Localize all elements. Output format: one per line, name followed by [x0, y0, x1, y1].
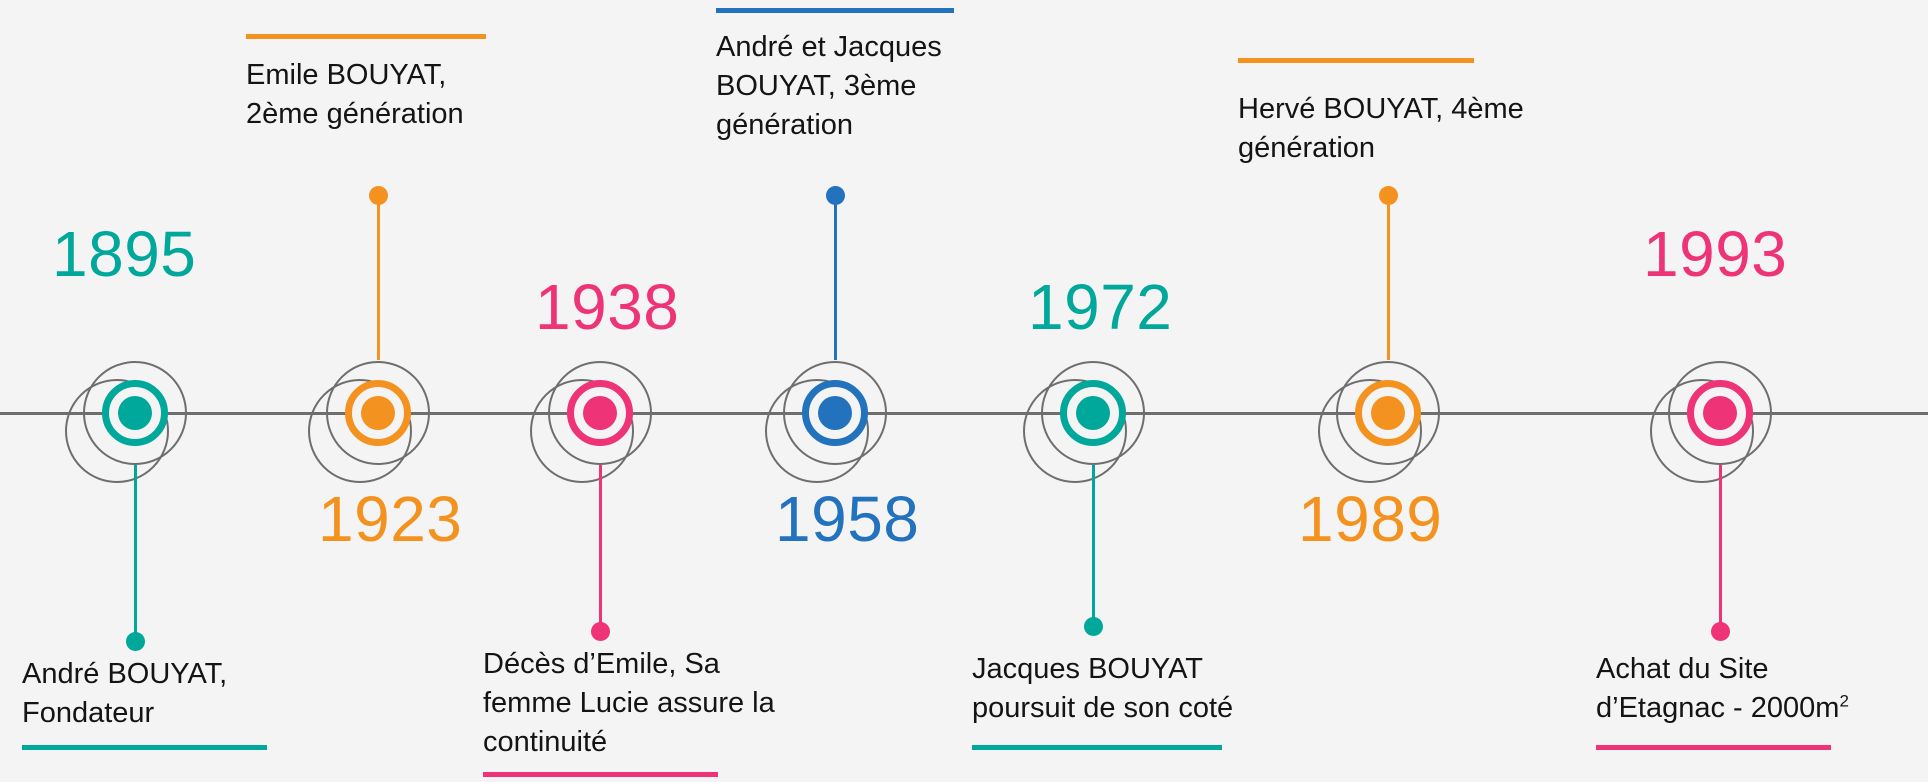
connector-stem-1972: [1092, 465, 1095, 625]
caption-text: André et Jacques BOUYAT, 3ème génération: [716, 31, 942, 141]
caption-text: Décès d’Emile, Sa femme Lucie assure la …: [483, 648, 775, 758]
caption-text: André BOUYAT, Fondateur: [22, 658, 227, 729]
connector-dot-1923: [369, 186, 388, 205]
connector-dot-1958: [826, 186, 845, 205]
accent-rule-1993: [1596, 745, 1831, 750]
connector-stem-1993: [1719, 465, 1722, 630]
node-center-dot: [1076, 396, 1110, 430]
node-center-dot: [818, 396, 852, 430]
node-center-dot: [583, 396, 617, 430]
connector-stem-1923: [377, 195, 380, 360]
accent-rule-1895: [22, 745, 267, 750]
timeline-axis: [0, 412, 1928, 415]
year-label-1895: 1895: [52, 222, 196, 286]
connector-dot-1993: [1711, 622, 1730, 641]
caption-1938: Décès d’Emile, Sa femme Lucie assure la …: [483, 645, 843, 762]
year-label-1923: 1923: [318, 487, 462, 551]
connector-stem-1895: [134, 465, 137, 640]
connector-dot-1938: [591, 622, 610, 641]
caption-text: Jacques BOUYAT poursuit de son coté: [972, 653, 1233, 724]
caption-text: Hervé BOUYAT, 4ème génération: [1238, 93, 1524, 164]
node-center-dot: [361, 396, 395, 430]
node-center-dot: [118, 396, 152, 430]
caption-text: Emile BOUYAT, 2ème génération: [246, 59, 464, 130]
caption-1993: Achat du Site d’Etagnac - 2000m2: [1596, 650, 1928, 728]
connector-stem-1989: [1387, 195, 1390, 360]
connector-stem-1938: [599, 465, 602, 630]
caption-superscript: 2: [1839, 691, 1848, 710]
caption-1895: André BOUYAT, Fondateur: [22, 655, 352, 733]
connector-stem-1958: [834, 195, 837, 360]
node-center-dot: [1703, 396, 1737, 430]
year-label-1938: 1938: [535, 275, 679, 339]
year-label-1972: 1972: [1028, 275, 1172, 339]
connector-dot-1989: [1379, 186, 1398, 205]
year-label-1958: 1958: [775, 487, 919, 551]
accent-rule-1958: [716, 8, 954, 13]
caption-1923: Emile BOUYAT, 2ème génération: [246, 56, 576, 134]
node-center-dot: [1371, 396, 1405, 430]
accent-rule-1938: [483, 772, 718, 777]
caption-1972: Jacques BOUYAT poursuit de son coté: [972, 650, 1312, 728]
accent-rule-1972: [972, 745, 1222, 750]
caption-text: Achat du Site d’Etagnac - 2000m: [1596, 653, 1839, 724]
accent-rule-1923: [246, 34, 486, 39]
caption-1958: André et Jacques BOUYAT, 3ème génération: [716, 28, 1026, 145]
year-label-1993: 1993: [1643, 222, 1787, 286]
caption-1989: Hervé BOUYAT, 4ème génération: [1238, 90, 1628, 168]
timeline-infographic: 1895André BOUYAT, Fondateur1923Emile BOU…: [0, 0, 1928, 782]
accent-rule-1989: [1238, 58, 1474, 63]
connector-dot-1972: [1084, 617, 1103, 636]
year-label-1989: 1989: [1298, 487, 1442, 551]
connector-dot-1895: [126, 632, 145, 651]
